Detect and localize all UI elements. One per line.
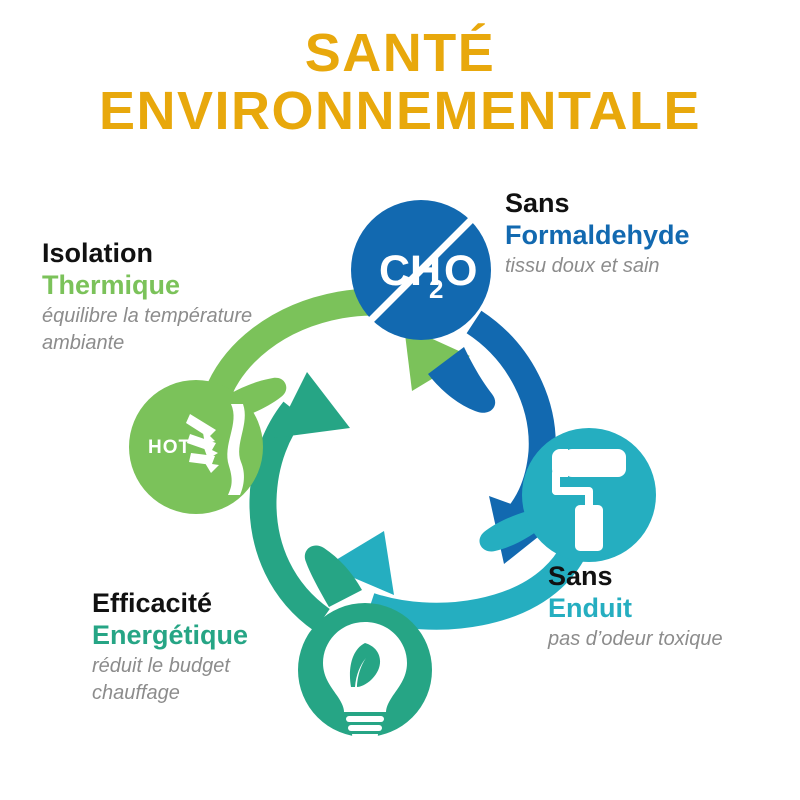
callout-enduit-description: pas d’odeur toxique (548, 627, 800, 652)
callout-efficacite: Efficacité Energétique réduit le budget … (92, 588, 322, 706)
node-enduit[interactable] (480, 428, 656, 562)
callout-efficacite-description-1: réduit le budget (92, 654, 322, 679)
callout-efficacite-subheading: Energétique (92, 620, 322, 652)
ch2o-tail-text: O (444, 247, 477, 295)
callout-isolation: Isolation Thermique équilibre la tempéra… (42, 238, 332, 356)
callout-enduit: Sans Enduit pas d’odeur toxique (548, 561, 800, 652)
callout-formaldehyde: Sans Formaldehyde tissu doux et sain (505, 188, 795, 279)
callout-efficacite-heading: Efficacité (92, 588, 322, 620)
callout-enduit-heading: Sans (548, 561, 800, 593)
ch2o-subscript-text: 2 (429, 274, 443, 304)
callout-isolation-subheading: Thermique (42, 270, 332, 302)
callout-formaldehyde-subheading: Formaldehyde (505, 220, 795, 252)
callout-isolation-heading: Isolation (42, 238, 332, 270)
callout-efficacite-description-2: chauffage (92, 681, 322, 706)
hot-label-text: HOT (148, 437, 191, 458)
callout-isolation-description-1: équilibre la température (42, 304, 332, 329)
callout-enduit-subheading: Enduit (548, 593, 800, 625)
callout-formaldehyde-description: tissu doux et sain (505, 254, 795, 279)
infographic-canvas: SANTÉ ENVIRONNEMENTALE (0, 0, 800, 800)
callout-formaldehyde-heading: Sans (505, 188, 795, 220)
callout-isolation-description-2: ambiante (42, 331, 332, 356)
